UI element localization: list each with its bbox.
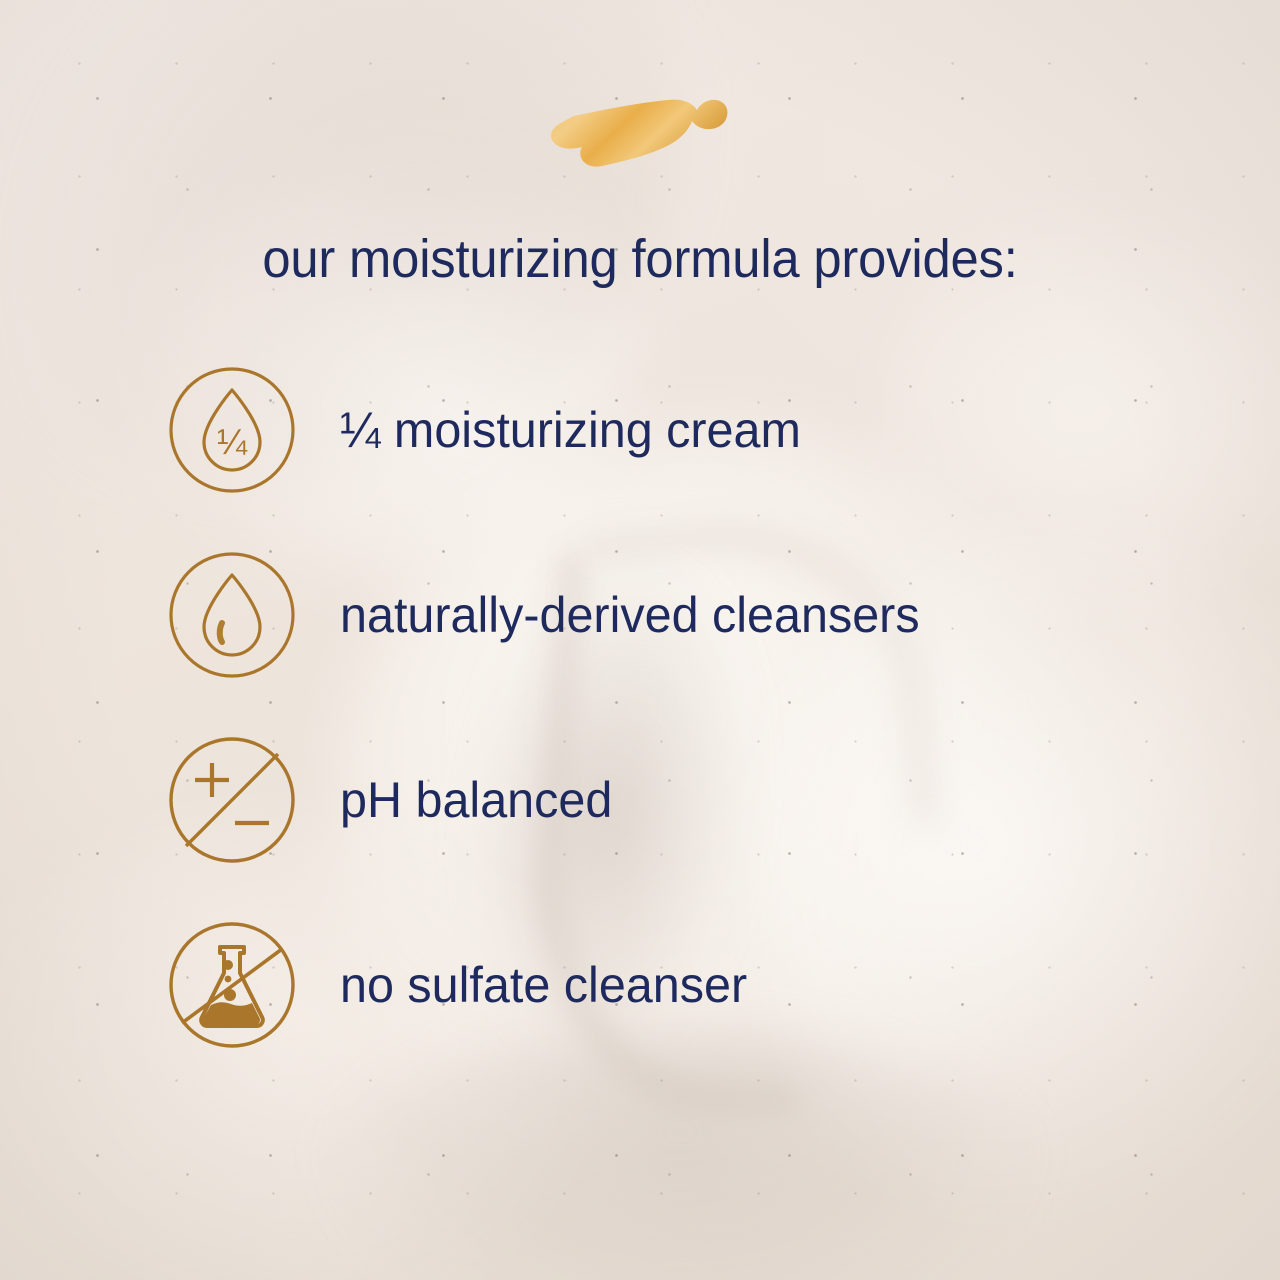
list-item-label: no sulfate cleanser bbox=[340, 956, 747, 1014]
list-item-label: naturally-derived cleansers bbox=[340, 586, 920, 644]
droplet-icon bbox=[166, 549, 298, 681]
benefits-list: ¼ ¼ moisturizing cream naturally-derived… bbox=[162, 360, 1172, 1055]
list-item: pH balanced bbox=[162, 730, 1172, 870]
svg-text:¼: ¼ bbox=[217, 421, 248, 462]
list-item: no sulfate cleanser bbox=[162, 915, 1172, 1055]
no-sulfate-flask-icon bbox=[166, 919, 298, 1051]
benefit-icon-cell bbox=[162, 549, 302, 681]
benefit-icon-cell: ¼ bbox=[162, 364, 302, 496]
promo-graphic: our moisturizing formula provides: ¼ ¼ m… bbox=[0, 0, 1280, 1280]
benefit-icon-cell bbox=[162, 734, 302, 866]
list-item: ¼ ¼ moisturizing cream bbox=[162, 360, 1172, 500]
list-item-label: ¼ moisturizing cream bbox=[340, 401, 801, 459]
quarter-moisturizing-cream-droplet-icon: ¼ bbox=[166, 364, 298, 496]
dove-bird-logo-icon bbox=[550, 96, 730, 172]
brand-logo bbox=[0, 96, 1280, 172]
no-ph-imbalance-plus-minus-icon bbox=[166, 734, 298, 866]
list-item-label: pH balanced bbox=[340, 771, 612, 829]
list-item: naturally-derived cleansers bbox=[162, 545, 1172, 685]
benefit-icon-cell bbox=[162, 919, 302, 1051]
page-title: our moisturizing formula provides: bbox=[38, 228, 1241, 290]
